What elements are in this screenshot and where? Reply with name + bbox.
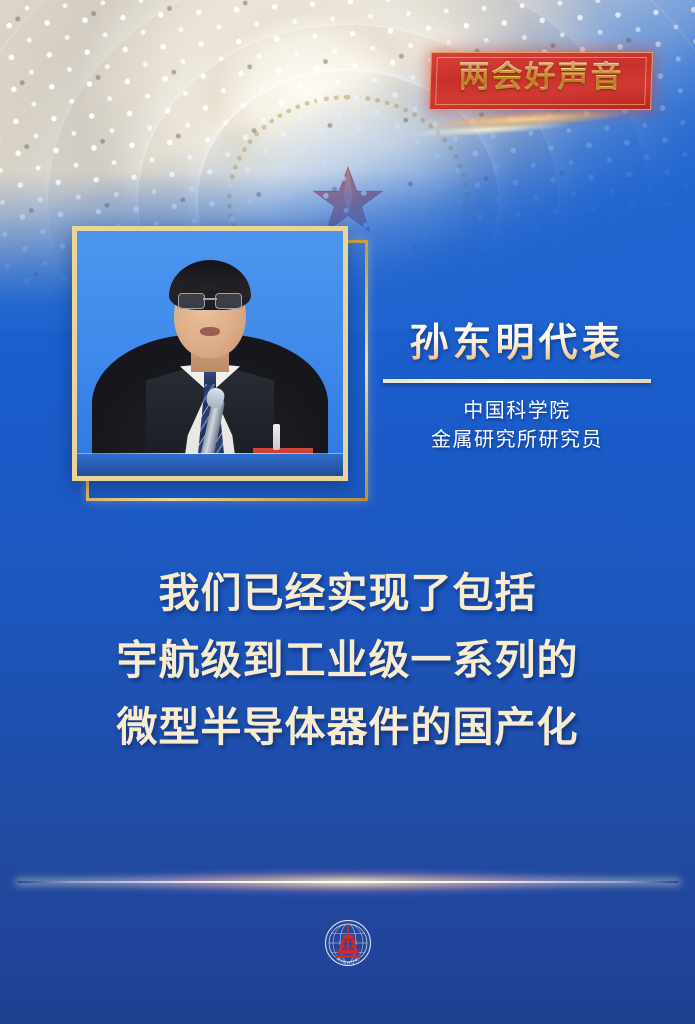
desk-pen xyxy=(273,424,280,450)
quote-line-2: 宇航级到工业级一系列的 xyxy=(0,627,695,694)
affiliation-line-2: 金属研究所研究员 xyxy=(378,426,656,455)
speaker-info-block: 孙东明代表 中国科学院 金属研究所研究员 xyxy=(378,322,656,455)
portrait-block xyxy=(72,226,348,481)
lens-left xyxy=(178,293,205,309)
speaker-photo-inner xyxy=(77,231,343,476)
mouth xyxy=(200,327,220,336)
quote-block: 我们已经实现了包括 宇航级到工业级一系列的 微型半导体器件的国产化 xyxy=(0,560,695,760)
quote-line-1: 我们已经实现了包括 xyxy=(0,560,695,627)
program-title-banner: 两会好声音 xyxy=(430,52,652,110)
desk-surface xyxy=(77,454,343,476)
speaker-affiliation: 中国科学院 金属研究所研究员 xyxy=(378,397,656,455)
divider-core-line xyxy=(18,881,678,883)
speaker-name: 孙东明代表 xyxy=(378,322,656,366)
affiliation-line-1: 中国科学院 xyxy=(378,397,656,426)
name-underline-rule xyxy=(383,379,651,383)
quote-line-3: 微型半导体器件的国产化 xyxy=(0,694,695,761)
lens-right xyxy=(215,293,242,309)
poster-canvas: 两会好声音 xyxy=(0,0,695,1024)
eyeglasses-icon xyxy=(178,293,242,308)
xinhua-logo-icon: XINHUA xyxy=(323,918,373,968)
banner-title-text: 两会好声音 xyxy=(430,61,652,92)
speaker-photo xyxy=(72,226,348,481)
glow-divider xyxy=(0,852,695,912)
